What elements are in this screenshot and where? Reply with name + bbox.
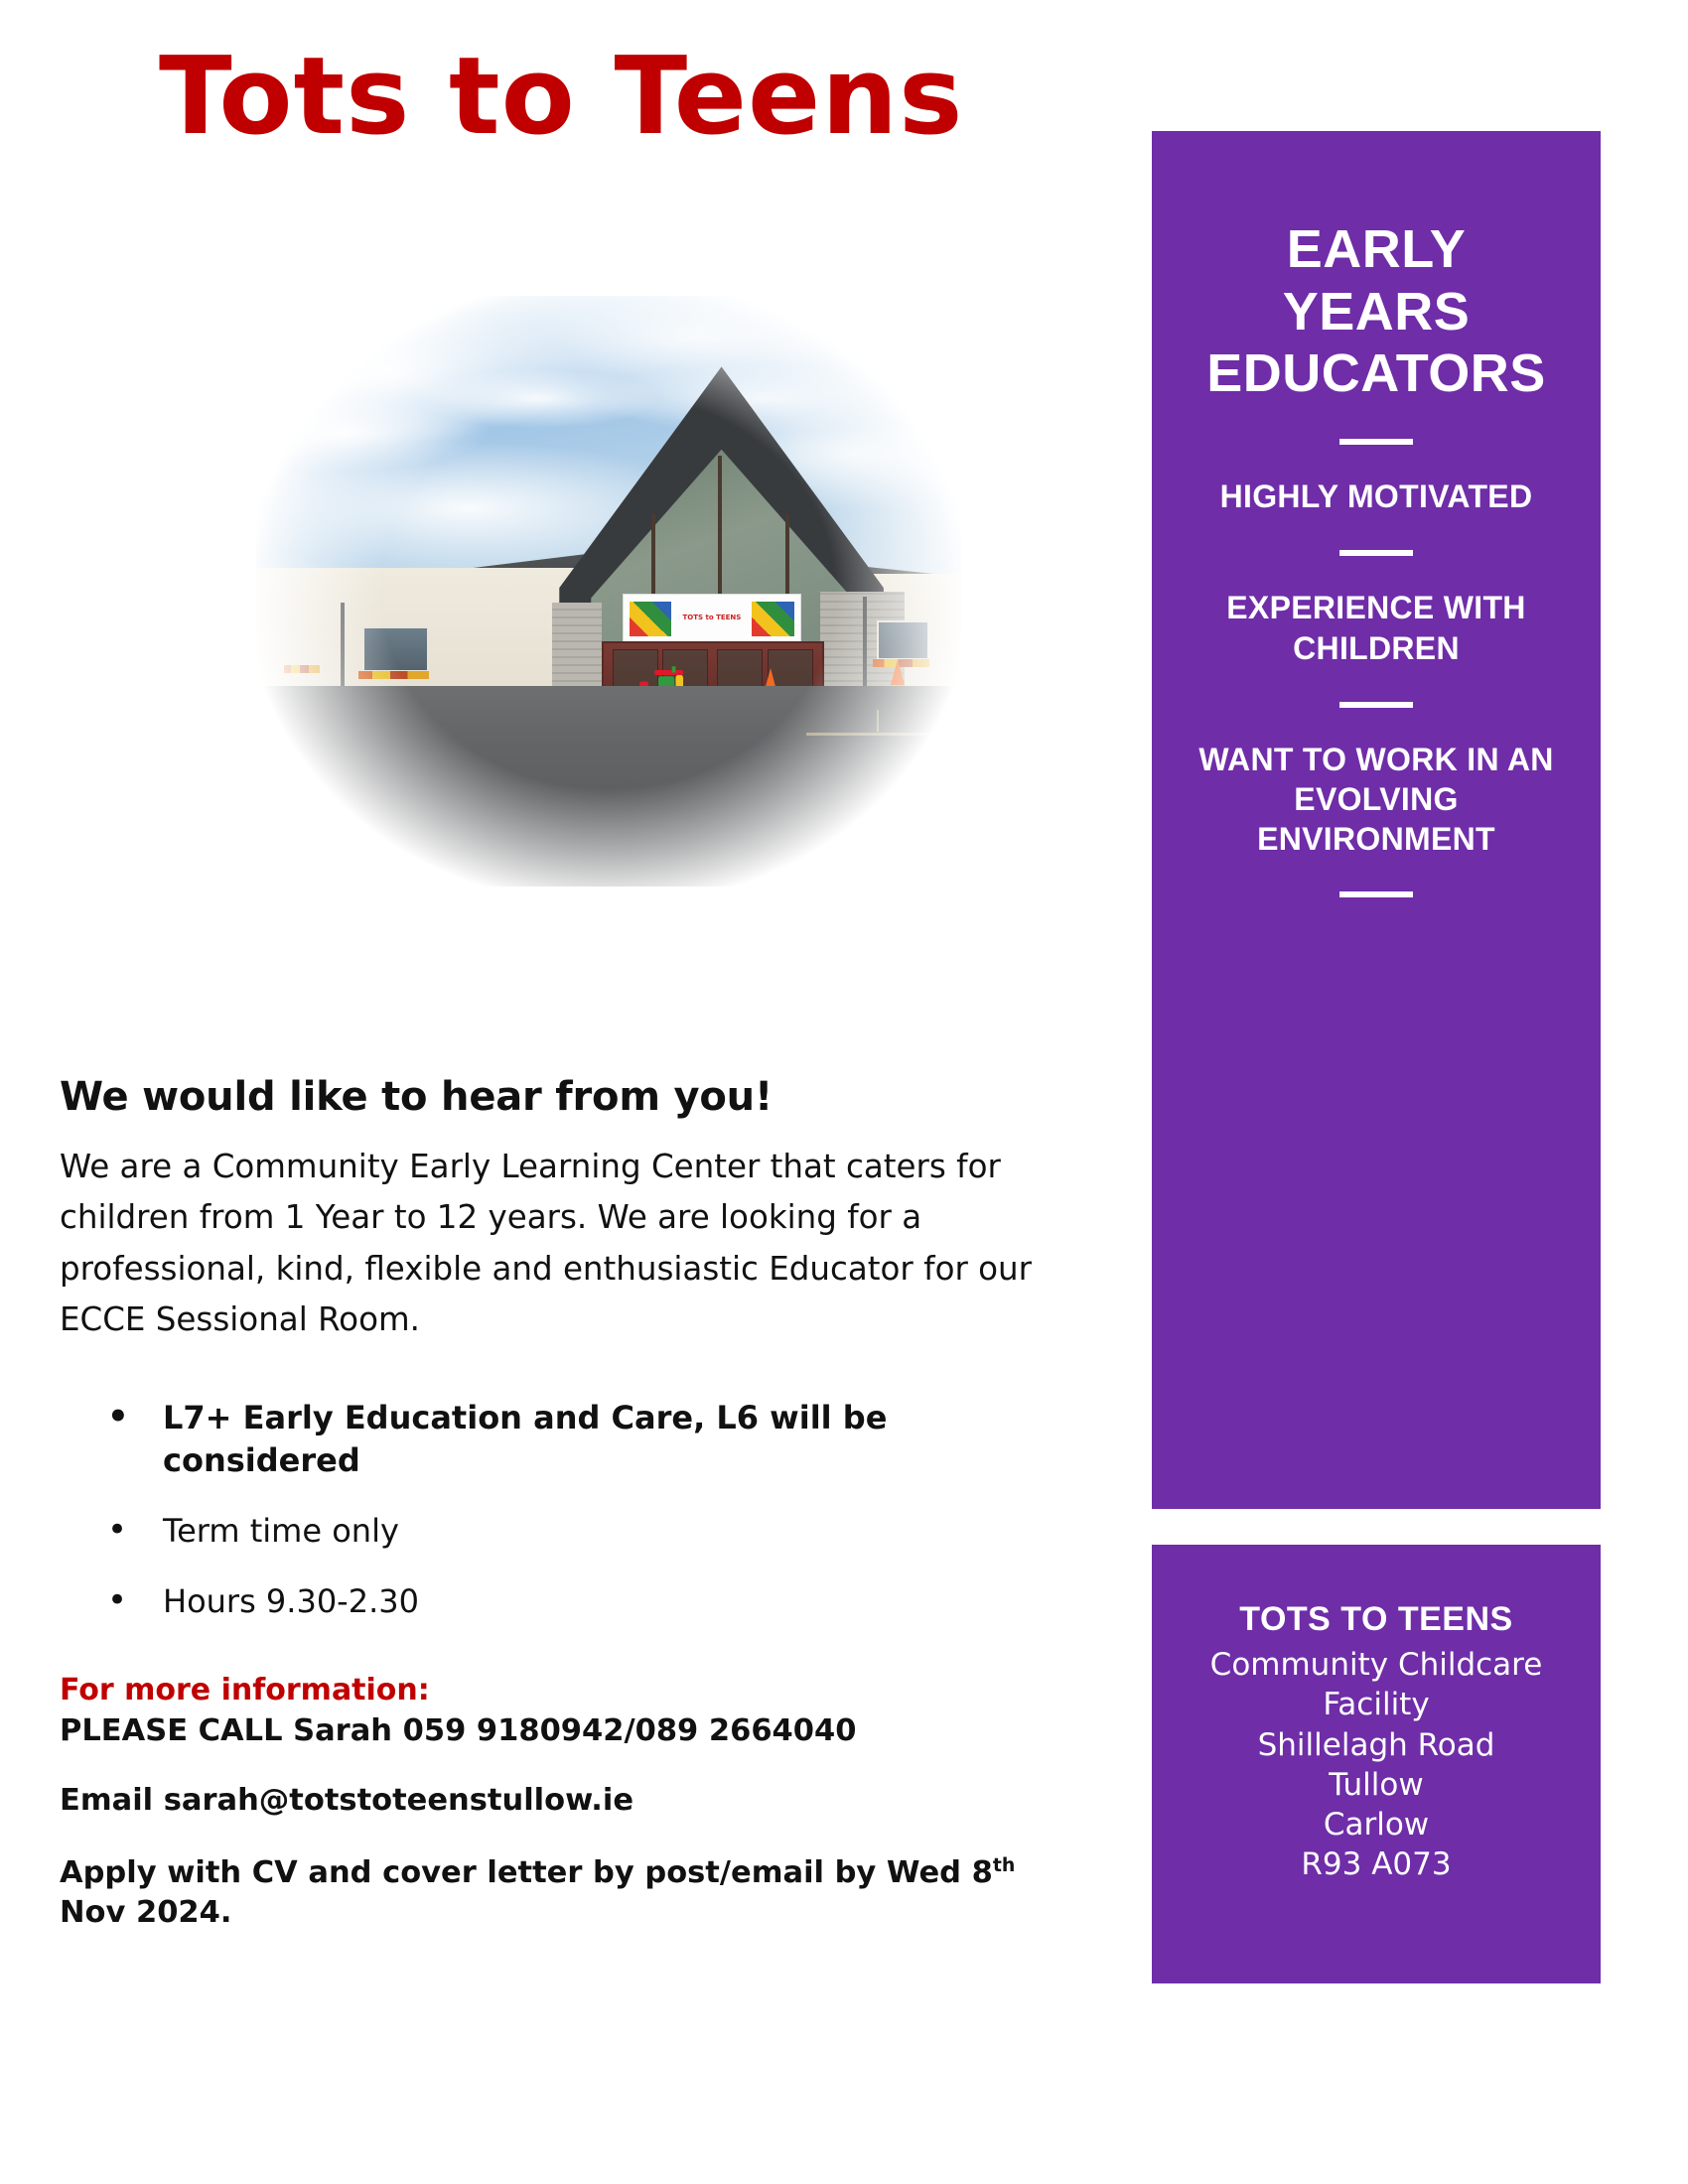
address-line: R93 A073 bbox=[1176, 1844, 1577, 1884]
address-title: TOTS TO TEENS bbox=[1176, 1600, 1577, 1639]
requirement-item-3: WANT TO WORK IN AN EVOLVING ENVIRONMENT bbox=[1180, 740, 1573, 860]
address-line: Facility bbox=[1176, 1685, 1577, 1724]
entrance-sign: TOTS to TEENS bbox=[623, 594, 801, 643]
apply-suffix: Nov 2024. bbox=[60, 1895, 231, 1930]
address-line: Tullow bbox=[1176, 1765, 1577, 1805]
requirement-item-1: HIGHLY MOTIVATED bbox=[1180, 477, 1573, 516]
contact-block: For more information: PLEASE CALL Sarah … bbox=[60, 1673, 1062, 1933]
sign-text: TOTS to TEENS bbox=[683, 614, 742, 622]
flower-box bbox=[358, 671, 429, 679]
address-panel: TOTS TO TEENS Community Childcare Facili… bbox=[1152, 1545, 1601, 1983]
window bbox=[877, 620, 930, 660]
list-item: L7+ Early Education and Care, L6 will be… bbox=[163, 1397, 1062, 1482]
address-line: Community Childcare bbox=[1176, 1645, 1577, 1685]
page-title: Tots to Teens bbox=[159, 38, 963, 158]
requirements-bullet-list: L7+ Early Education and Care, L6 will be… bbox=[60, 1397, 1062, 1623]
downpipe bbox=[341, 603, 345, 697]
divider-rule bbox=[1339, 550, 1413, 556]
flower-box bbox=[284, 665, 320, 673]
body-column: We would like to hear from you! We are a… bbox=[60, 1074, 1062, 1933]
window bbox=[362, 626, 430, 672]
car-park-tarmac bbox=[256, 686, 961, 887]
list-item: Term time only bbox=[163, 1510, 1062, 1553]
traffic-cone bbox=[891, 659, 905, 685]
parking-line bbox=[918, 751, 961, 753]
headline-line-3: EDUCATORS bbox=[1180, 342, 1573, 405]
contact-heading: For more information: bbox=[60, 1673, 1062, 1707]
divider-rule bbox=[1339, 439, 1413, 445]
apply-ordinal: th bbox=[993, 1854, 1016, 1876]
divider-rule bbox=[1339, 891, 1413, 897]
building-photo: TOTS to TEENS bbox=[256, 296, 961, 887]
parking-line bbox=[877, 710, 879, 732]
headline-line-2: YEARS bbox=[1180, 281, 1573, 343]
sign-blocks-right-icon bbox=[752, 602, 794, 636]
requirement-item-2: EXPERIENCE WITH CHILDREN bbox=[1180, 588, 1573, 668]
downpipe bbox=[863, 597, 867, 691]
email-line: Email sarah@totstoteenstullow.ie bbox=[60, 1781, 1062, 1821]
headline-line-1: EARLY bbox=[1180, 218, 1573, 281]
list-item: Hours 9.30-2.30 bbox=[163, 1580, 1062, 1623]
phone-line: PLEASE CALL Sarah 059 9180942/089 266404… bbox=[60, 1711, 1062, 1751]
requirements-panel: EARLY YEARS EDUCATORS HIGHLY MOTIVATED E… bbox=[1152, 131, 1601, 1509]
divider-rule bbox=[1339, 702, 1413, 708]
requirements-headline: EARLY YEARS EDUCATORS bbox=[1180, 218, 1573, 405]
apply-prefix: Apply with CV and cover letter by post/e… bbox=[60, 1855, 993, 1890]
sign-blocks-left-icon bbox=[630, 602, 672, 636]
address-line: Carlow bbox=[1176, 1805, 1577, 1844]
body-heading: We would like to hear from you! bbox=[60, 1074, 1062, 1120]
body-paragraph: We are a Community Early Learning Center… bbox=[60, 1142, 1053, 1345]
apply-line: Apply with CV and cover letter by post/e… bbox=[60, 1853, 1062, 1932]
building-photo-image: TOTS to TEENS bbox=[256, 296, 961, 887]
address-line: Shillelagh Road bbox=[1176, 1725, 1577, 1765]
parking-line bbox=[806, 733, 947, 736]
